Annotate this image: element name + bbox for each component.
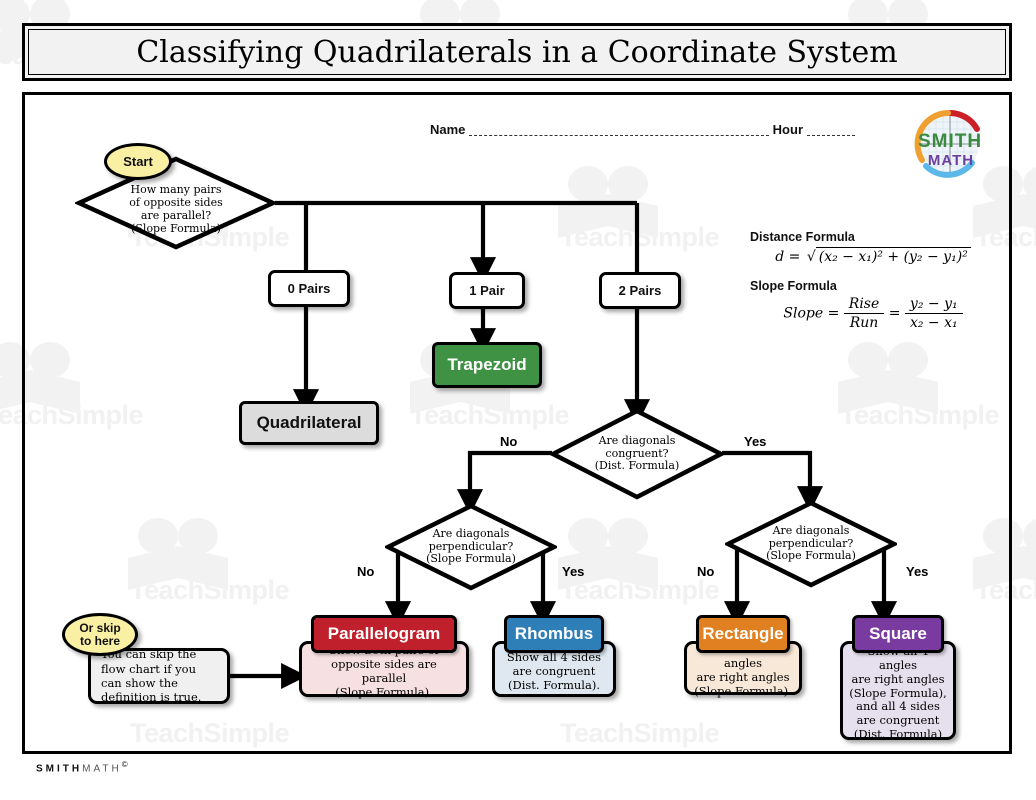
branch-pill-label: 2 Pairs <box>619 283 662 298</box>
result-body-line: and all 4 sides <box>849 700 947 714</box>
start-badge: Start <box>104 143 172 180</box>
result-body-line: (Dist. Formula) <box>849 728 947 742</box>
svg-text:SMITH: SMITH <box>918 131 982 152</box>
result-body-line: are right angles <box>693 671 793 685</box>
hour-input-rule[interactable] <box>807 123 855 136</box>
name-input-rule[interactable] <box>469 123 769 136</box>
decision-text: Are diagonals perpendicular? (Slope Form… <box>385 503 557 591</box>
result-header: Rectangle <box>696 615 790 653</box>
result-body-line: (Dist. Formula). <box>507 679 601 693</box>
result-body-line: opposite sides are parallel <box>308 658 460 686</box>
page-title: Classifying Quadrilaterals in a Coordina… <box>136 35 897 70</box>
result-body-line: Show all 4 sides <box>507 651 601 665</box>
branch-pill-label: 1 Pair <box>469 283 504 298</box>
svg-text:MATH: MATH <box>928 152 974 169</box>
distance-formula-radicand: (x₂ − x₁)² + (y₂ − y₁)² <box>816 247 971 265</box>
footer-copyright: © <box>122 760 128 769</box>
result-header: Square <box>852 615 944 653</box>
result-label: Rhombus <box>515 624 593 644</box>
decision-diagonals-perpendicular-right: Are diagonals perpendicular? (Slope Form… <box>725 500 897 588</box>
start-badge-label: Start <box>123 155 153 169</box>
branch-pill-label: 0 Pairs <box>288 281 331 296</box>
distance-formula-lhs: d = <box>775 249 800 265</box>
result-parallelogram: Parallelogram Show both pairs of opposit… <box>299 615 469 697</box>
result-body: Show all 4 angles are right angles (Slop… <box>840 641 956 740</box>
result-rectangle: Rectangle Show all 4 angles are right an… <box>684 615 802 695</box>
hour-label: Hour <box>773 122 803 137</box>
branch-label-yes: Yes <box>562 564 584 579</box>
result-header: Parallelogram <box>311 615 457 653</box>
decision-diagonals-perpendicular-left: Are diagonals perpendicular? (Slope Form… <box>385 503 557 591</box>
result-body-line: are congruent <box>849 714 947 728</box>
footer-brand-light: MATH <box>82 763 122 774</box>
result-trapezoid: Trapezoid <box>432 342 542 388</box>
result-label: Parallelogram <box>328 624 440 644</box>
result-body-line: (Slope Formula). <box>308 686 460 700</box>
name-hour-line: Name Hour <box>430 122 855 137</box>
skip-note-text: You can skip the flow chart if you can s… <box>101 647 217 705</box>
branch-label-no: No <box>500 434 517 449</box>
branch-label-yes: Yes <box>744 434 766 449</box>
slope-fraction-coords: y₂ − y₁ x₂ − x₁ <box>905 296 963 331</box>
branch-label-no: No <box>697 564 714 579</box>
decision-text: Are diagonals congruent? (Dist. Formula) <box>550 408 724 500</box>
distance-formula-body: d = √(x₂ − x₁)² + (y₂ − y₁)² <box>748 247 998 265</box>
result-body-line: are congruent <box>507 665 601 679</box>
result-label: Square <box>869 624 927 644</box>
page-title-bar: Classifying Quadrilaterals in a Coordina… <box>22 23 1012 81</box>
branch-label-yes: Yes <box>906 564 928 579</box>
worksheet-page: TeachSimple TeachSimple TeachSimple Teac… <box>0 0 1036 800</box>
result-square: Square Show all 4 angles are right angle… <box>840 615 956 740</box>
result-body-line: are right angles <box>849 673 947 687</box>
smith-math-logo: SMITH MATH <box>904 108 996 180</box>
branch-pill-one-pair: 1 Pair <box>449 272 525 309</box>
result-label: Trapezoid <box>447 355 526 375</box>
formula-panel: Distance Formula d = √(x₂ − x₁)² + (y₂ −… <box>748 230 998 345</box>
slope-formula-body: Slope = Rise Run = y₂ − y₁ x₂ − x₁ <box>748 296 998 331</box>
equals-sign: = <box>889 306 901 322</box>
skip-badge-label: Or skip to here <box>79 622 120 647</box>
name-label: Name <box>430 122 465 137</box>
result-label: Quadrilateral <box>257 413 362 433</box>
branch-pill-two-pairs: 2 Pairs <box>599 272 681 309</box>
result-quadrilateral: Quadrilateral <box>239 401 379 445</box>
branch-pill-zero-pairs: 0 Pairs <box>268 270 350 307</box>
slope-formula-lhs: Slope = <box>783 306 839 322</box>
footer-brand: SMITHMATH© <box>36 760 128 774</box>
result-label: Rectangle <box>702 624 783 644</box>
slope-formula-heading: Slope Formula <box>750 279 998 293</box>
result-header: Rhombus <box>504 615 604 653</box>
result-body-line: (Slope Formula). <box>693 685 793 699</box>
result-rhombus: Rhombus Show all 4 sides are congruent (… <box>492 615 616 697</box>
decision-pairs-parallel: How many pairs of opposite sides are par… <box>75 155 277 251</box>
sqrt-icon: √(x₂ − x₁)² + (y₂ − y₁)² <box>805 247 971 265</box>
skip-badge: Or skip to here <box>62 613 138 656</box>
branch-label-no: No <box>357 564 374 579</box>
decision-diagonals-congruent: Are diagonals congruent? (Dist. Formula) <box>550 408 724 500</box>
footer-brand-bold: SMITH <box>36 763 82 774</box>
slope-fraction-rise-run: Rise Run <box>844 296 885 331</box>
skip-note-box: You can skip the flow chart if you can s… <box>88 648 230 704</box>
decision-text: Are diagonals perpendicular? (Slope Form… <box>725 500 897 588</box>
decision-text: How many pairs of opposite sides are par… <box>75 155 277 251</box>
result-body-line: (Slope Formula), <box>849 687 947 701</box>
distance-formula-heading: Distance Formula <box>750 230 998 244</box>
